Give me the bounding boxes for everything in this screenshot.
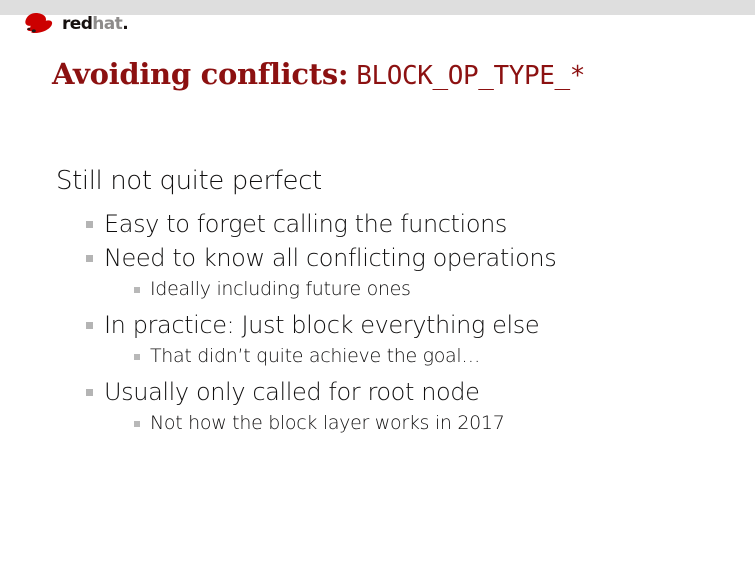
bullet-level2: Not how the block layer works in 2017 [150, 414, 755, 433]
wordmark-hat: hat [92, 14, 122, 34]
bullet-text: That didn’t quite achieve the goal… [150, 345, 480, 367]
square-bullet-icon [86, 389, 93, 396]
slide-title-code: BLOCK_OP_TYPE_* [356, 61, 585, 91]
bullet-text: Usually only called for root node [104, 378, 480, 406]
bullet-level1: Need to know all conflicting operations [104, 246, 755, 270]
bullet-level0: Still not quite perfect [56, 168, 755, 194]
square-bullet-icon [86, 221, 93, 228]
square-bullet-icon [134, 287, 140, 293]
wordmark-dot: . [122, 14, 128, 34]
square-bullet-icon [134, 354, 140, 360]
square-bullet-icon [86, 255, 93, 262]
square-bullet-icon [134, 421, 140, 427]
wordmark-red: red [62, 14, 92, 34]
bullet-text: Not how the block layer works in 2017 [150, 412, 504, 434]
square-bullet-icon [86, 322, 93, 329]
bullet-text: Still not quite perfect [56, 166, 322, 196]
redhat-logo: redhat. [19, 11, 128, 37]
slide-title-main: Avoiding conflicts: [52, 57, 348, 91]
bullet-text: Need to know all conflicting operations [104, 244, 556, 272]
bullet-level1: Easy to forget calling the functions [104, 212, 755, 236]
bullet-level1: Usually only called for root node [104, 380, 755, 404]
slide-body: Still not quite perfect Easy to forget c… [0, 168, 755, 444]
bullet-text: Easy to forget calling the functions [104, 210, 507, 238]
slide-title: Avoiding conflicts:BLOCK_OP_TYPE_* [52, 60, 585, 89]
bullet-text: Ideally including future ones [150, 278, 411, 300]
bullet-text: In practice: Just block everything else [104, 311, 539, 339]
bullet-level2: Ideally including future ones [150, 280, 755, 299]
presentation-slide: redhat. Avoiding conflicts:BLOCK_OP_TYPE… [0, 0, 755, 566]
redhat-shadowman-icon [19, 11, 61, 37]
bullet-level2: That didn’t quite achieve the goal… [150, 347, 755, 366]
redhat-wordmark: redhat. [62, 16, 128, 33]
bullet-level1: In practice: Just block everything else [104, 313, 755, 337]
